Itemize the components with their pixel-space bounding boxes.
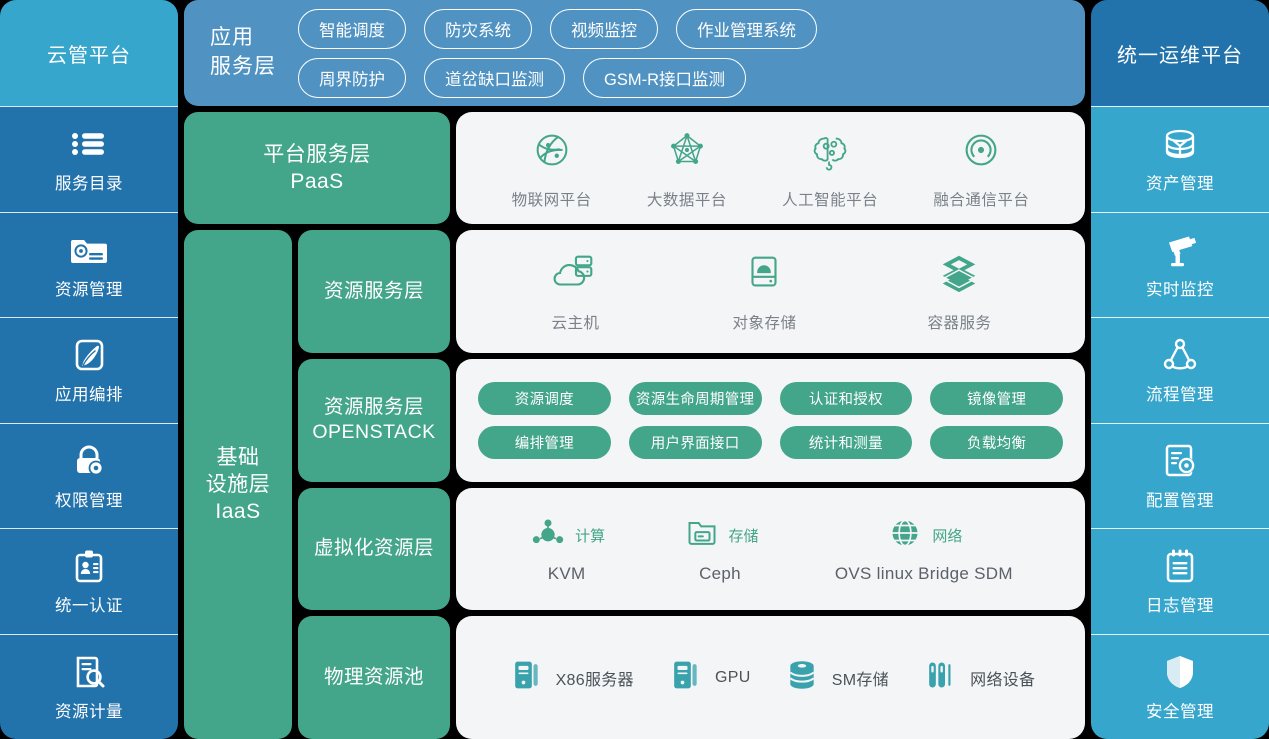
sidebar-item-unified-auth[interactable]: 统一认证	[0, 528, 178, 634]
document-gear-icon	[1159, 441, 1201, 481]
virt-tile-storage[interactable]: 存储 Ceph	[682, 513, 759, 584]
document-search-icon	[68, 652, 110, 692]
paas-tile-label: 融合通信平台	[933, 188, 1029, 210]
left-sidebar-title: 云管平台	[0, 0, 178, 106]
virt-name: OVS linux Bridge SDM	[835, 564, 1013, 584]
app-pill[interactable]: 智能调度	[298, 9, 406, 49]
sidebar-item-label: 资产管理	[1146, 170, 1214, 194]
openstack-card: 资源调度 资源生命周期管理 认证和授权 镜像管理 编排管理 用户界面接口 统计和…	[456, 359, 1085, 482]
sidebar-item-config-management[interactable]: 配置管理	[1091, 423, 1269, 529]
resource-tile-label: 对象存储	[732, 311, 796, 333]
physical-row: 物理资源池 X86服务器	[298, 616, 1085, 739]
virt-tag: 计算	[575, 525, 605, 546]
paas-tile-communication[interactable]: 融合通信平台	[933, 127, 1029, 210]
openstack-pill-row: 资源调度 资源生命周期管理 认证和授权 镜像管理	[478, 382, 1063, 415]
database-icon	[1159, 124, 1201, 164]
openstack-row: 资源服务层 OPENSTACK 资源调度 资源生命周期管理 认证和授权 镜像管理…	[298, 359, 1085, 482]
virt-tag: 网络	[932, 525, 962, 546]
app-layer-title: 应用 服务层	[210, 24, 276, 82]
flow-nodes-icon	[1159, 335, 1201, 375]
app-pill[interactable]: GSM-R接口监测	[583, 58, 746, 98]
app-pill[interactable]: 视频监控	[550, 9, 658, 49]
list-icon	[68, 124, 110, 164]
virt-tile-top: 网络	[885, 513, 962, 558]
openstack-pill[interactable]: 编排管理	[478, 426, 611, 459]
app-pill[interactable]: 防灾系统	[424, 9, 532, 49]
sidebar-item-security-management[interactable]: 安全管理	[1091, 634, 1269, 739]
virt-tag: 存储	[729, 525, 759, 546]
sidebar-item-label: 资源计量	[55, 698, 123, 722]
container-stack-icon	[936, 250, 982, 301]
object-storage-icon	[741, 250, 787, 301]
id-badge-icon	[68, 546, 110, 586]
resource-tile-cloud-host[interactable]: 云主机	[549, 250, 601, 333]
cctv-camera-icon	[1159, 230, 1201, 270]
pen-square-icon	[68, 335, 110, 375]
sidebar-item-label: 资源管理	[55, 276, 123, 300]
phys-tile-label: GPU	[715, 669, 751, 687]
sidebar-item-app-orchestration[interactable]: 应用编排	[0, 317, 178, 423]
resource-tile-container-service[interactable]: 容器服务	[927, 250, 991, 333]
app-pill-row: 智能调度 防灾系统 视频监控 作业管理系统	[298, 9, 1073, 49]
openstack-pill[interactable]: 负载均衡	[930, 426, 1063, 459]
sidebar-item-label: 日志管理	[1146, 592, 1214, 616]
architecture-diagram: 云管平台 服务目录 资源管理	[0, 0, 1269, 739]
paas-row: 平台服务层 PaaS 物联网平台	[184, 112, 1085, 224]
phys-tile-label: 网络设备	[970, 666, 1035, 690]
openstack-pill[interactable]: 资源调度	[478, 382, 611, 415]
virt-name: Ceph	[699, 564, 741, 584]
clipboard-lines-icon	[1159, 546, 1201, 586]
resource-service-label: 资源服务层	[298, 230, 450, 353]
sidebar-item-asset-management[interactable]: 资产管理	[1091, 106, 1269, 212]
phys-tile-gpu[interactable]: GPU	[665, 655, 751, 700]
physical-card: X86服务器 GPU	[456, 616, 1085, 739]
physical-label: 物理资源池	[298, 616, 450, 739]
paas-tile-bigdata[interactable]: 大数据平台	[647, 127, 727, 210]
sidebar-item-process-management[interactable]: 流程管理	[1091, 317, 1269, 423]
lock-gear-icon	[68, 441, 110, 481]
application-service-layer: 应用 服务层 智能调度 防灾系统 视频监控 作业管理系统 周界防护 道岔缺口监测…	[184, 0, 1085, 106]
virt-name: KVM	[548, 564, 586, 584]
phys-tile-label: SM存储	[832, 666, 889, 690]
virtualization-label: 虚拟化资源层	[298, 488, 450, 611]
graph-nodes-icon	[664, 127, 710, 178]
sidebar-item-realtime-monitoring[interactable]: 实时监控	[1091, 212, 1269, 318]
app-pill[interactable]: 周界防护	[298, 58, 406, 98]
center-column: 应用 服务层 智能调度 防灾系统 视频监控 作业管理系统 周界防护 道岔缺口监测…	[184, 0, 1085, 739]
disk-stack-icon	[782, 655, 822, 700]
virt-tile-top: 存储	[682, 513, 759, 558]
resource-tile-label: 云主机	[551, 311, 599, 333]
openstack-pill[interactable]: 镜像管理	[930, 382, 1063, 415]
server-tower-icon	[506, 655, 546, 700]
compute-nodes-icon	[528, 513, 568, 558]
phys-tile-network-device[interactable]: 网络设备	[920, 655, 1035, 700]
openstack-pill[interactable]: 资源生命周期管理	[629, 382, 762, 415]
openstack-pill[interactable]: 统计和测量	[780, 426, 913, 459]
storage-folder-icon	[682, 513, 722, 558]
app-pill-row: 周界防护 道岔缺口监测 GSM-R接口监测	[298, 58, 1073, 98]
paas-tile-label: 人工智能平台	[782, 188, 878, 210]
phys-tile-x86[interactable]: X86服务器	[506, 655, 634, 700]
sidebar-item-label: 统一认证	[55, 592, 123, 616]
signal-waves-icon	[958, 127, 1004, 178]
server-tower-icon	[665, 655, 705, 700]
sidebar-item-service-catalog[interactable]: 服务目录	[0, 106, 178, 212]
resource-service-row: 资源服务层	[298, 230, 1085, 353]
iaas-rows: 资源服务层	[298, 230, 1085, 739]
sidebar-item-permission-management[interactable]: 权限管理	[0, 423, 178, 529]
cloud-server-icon	[549, 250, 601, 301]
virtualization-card: 计算 KVM	[456, 488, 1085, 611]
shield-icon	[1159, 652, 1201, 692]
left-sidebar: 云管平台 服务目录 资源管理	[0, 0, 178, 739]
iaas-label: 基础 设施层 IaaS	[184, 230, 292, 739]
app-pill-grid: 智能调度 防灾系统 视频监控 作业管理系统 周界防护 道岔缺口监测 GSM-R接…	[298, 9, 1073, 98]
app-pill[interactable]: 道岔缺口监测	[424, 58, 565, 98]
virt-tile-top: 计算	[528, 513, 605, 558]
openstack-label: 资源服务层 OPENSTACK	[298, 359, 450, 482]
app-pill[interactable]: 作业管理系统	[676, 9, 817, 49]
paas-tile-iot[interactable]: 物联网平台	[512, 127, 592, 210]
phys-tile-label: X86服务器	[556, 666, 634, 690]
network-device-icon	[920, 655, 960, 700]
openstack-pill[interactable]: 认证和授权	[780, 382, 913, 415]
sidebar-item-label: 权限管理	[55, 487, 123, 511]
folder-gear-icon	[68, 230, 110, 270]
paas-label: 平台服务层 PaaS	[184, 112, 450, 224]
phys-tile-sm-storage[interactable]: SM存储	[782, 655, 889, 700]
openstack-pill-row: 编排管理 用户界面接口 统计和测量 负载均衡	[478, 426, 1063, 459]
paas-card: 物联网平台 大数据平台	[456, 112, 1085, 224]
paas-tile-ai[interactable]: 人工智能平台	[782, 127, 878, 210]
sidebar-item-label: 安全管理	[1146, 698, 1214, 722]
sidebar-item-label: 实时监控	[1146, 276, 1214, 300]
paas-tile-label: 大数据平台	[647, 188, 727, 210]
paas-tile-label: 物联网平台	[512, 188, 592, 210]
resource-service-card: 云主机 对象存储	[456, 230, 1085, 353]
openstack-pill[interactable]: 用户界面接口	[629, 426, 762, 459]
resource-tile-object-storage[interactable]: 对象存储	[732, 250, 796, 333]
resource-tile-label: 容器服务	[927, 311, 991, 333]
right-sidebar: 统一运维平台 资产管理	[1091, 0, 1269, 739]
right-sidebar-title: 统一运维平台	[1091, 0, 1269, 106]
virt-tile-compute[interactable]: 计算 KVM	[528, 513, 605, 584]
globe-network-icon	[529, 127, 575, 178]
globe-solid-icon	[885, 513, 925, 558]
sidebar-item-resource-management[interactable]: 资源管理	[0, 212, 178, 318]
brain-icon	[807, 127, 853, 178]
sidebar-item-label: 应用编排	[55, 381, 123, 405]
virtualization-row: 虚拟化资源层 计算	[298, 488, 1085, 611]
sidebar-item-label: 服务目录	[55, 170, 123, 194]
virt-tile-network[interactable]: 网络 OVS linux Bridge SDM	[835, 513, 1013, 584]
sidebar-item-log-management[interactable]: 日志管理	[1091, 528, 1269, 634]
iaas-section: 基础 设施层 IaaS 资源服务层	[184, 230, 1085, 739]
sidebar-item-label: 流程管理	[1146, 381, 1214, 405]
sidebar-item-label: 配置管理	[1146, 487, 1214, 511]
sidebar-item-resource-metering[interactable]: 资源计量	[0, 634, 178, 739]
